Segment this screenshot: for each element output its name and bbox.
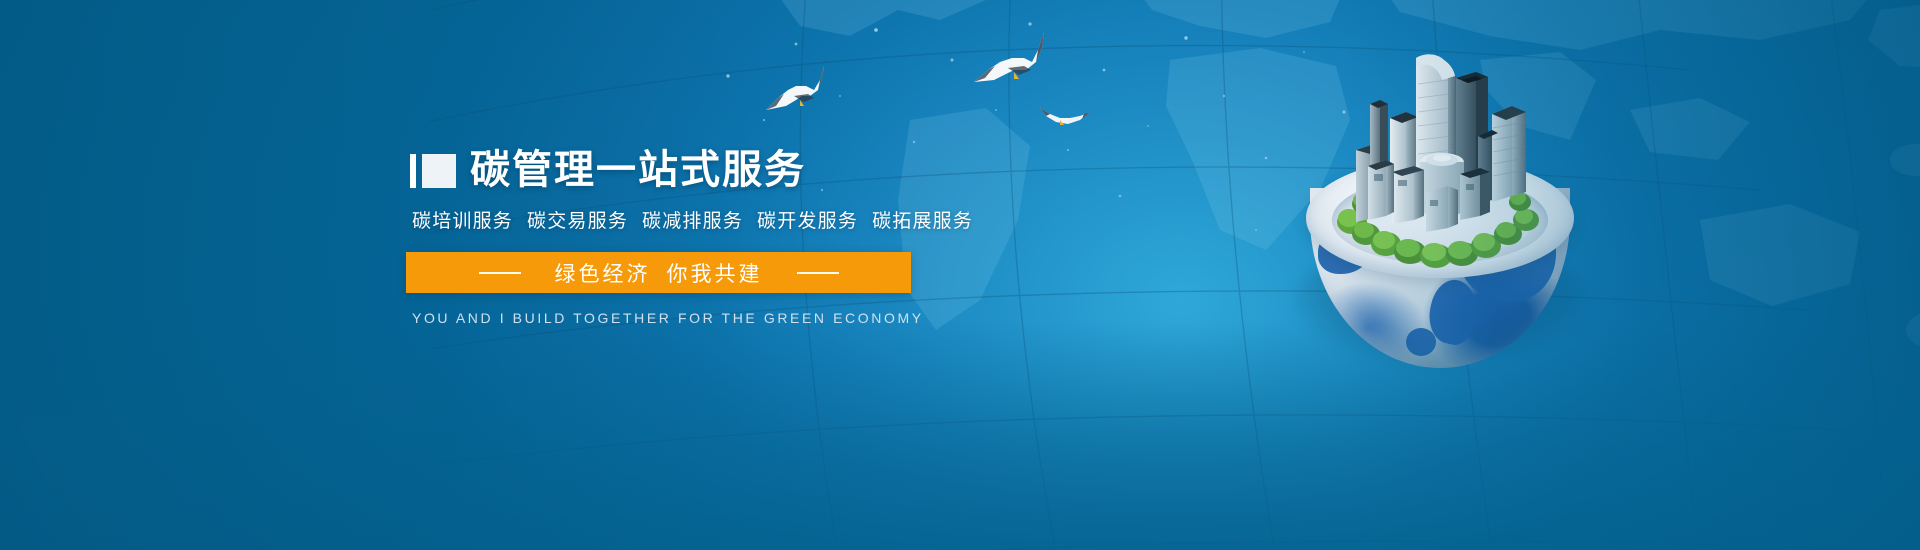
- headline-row: 碳管理一站式服务: [410, 150, 1050, 190]
- slogan-part-1: 绿色经济: [555, 263, 651, 286]
- banner-content: 碳管理一站式服务 碳培训服务碳交易服务碳减排服务碳开发服务碳拓展服务 绿色经济你…: [410, 150, 1050, 326]
- service-item: 碳交易服务: [527, 211, 628, 232]
- banner-root: 碳管理一站式服务 碳培训服务碳交易服务碳减排服务碳开发服务碳拓展服务 绿色经济你…: [0, 0, 1920, 550]
- english-tagline: YOU AND I BUILD TOGETHER FOR THE GREEN E…: [412, 310, 1050, 326]
- dash-right-icon: [797, 272, 839, 274]
- logo-mark: [410, 154, 456, 188]
- service-list: 碳培训服务碳交易服务碳减排服务碳开发服务碳拓展服务: [412, 206, 1050, 233]
- service-item: 碳拓展服务: [872, 211, 973, 232]
- slogan-text: 绿色经济你我共建: [555, 258, 763, 288]
- service-item: 碳减排服务: [642, 211, 743, 232]
- slogan-part-2: 你我共建: [667, 263, 763, 286]
- page-title: 碳管理一站式服务: [470, 150, 806, 190]
- logo-square-icon: [422, 154, 456, 188]
- slogan-banner: 绿色经济你我共建: [406, 252, 911, 293]
- service-item: 碳培训服务: [412, 211, 513, 232]
- service-item: 碳开发服务: [757, 211, 858, 232]
- logo-bar-icon: [410, 154, 416, 188]
- dash-left-icon: [479, 272, 521, 274]
